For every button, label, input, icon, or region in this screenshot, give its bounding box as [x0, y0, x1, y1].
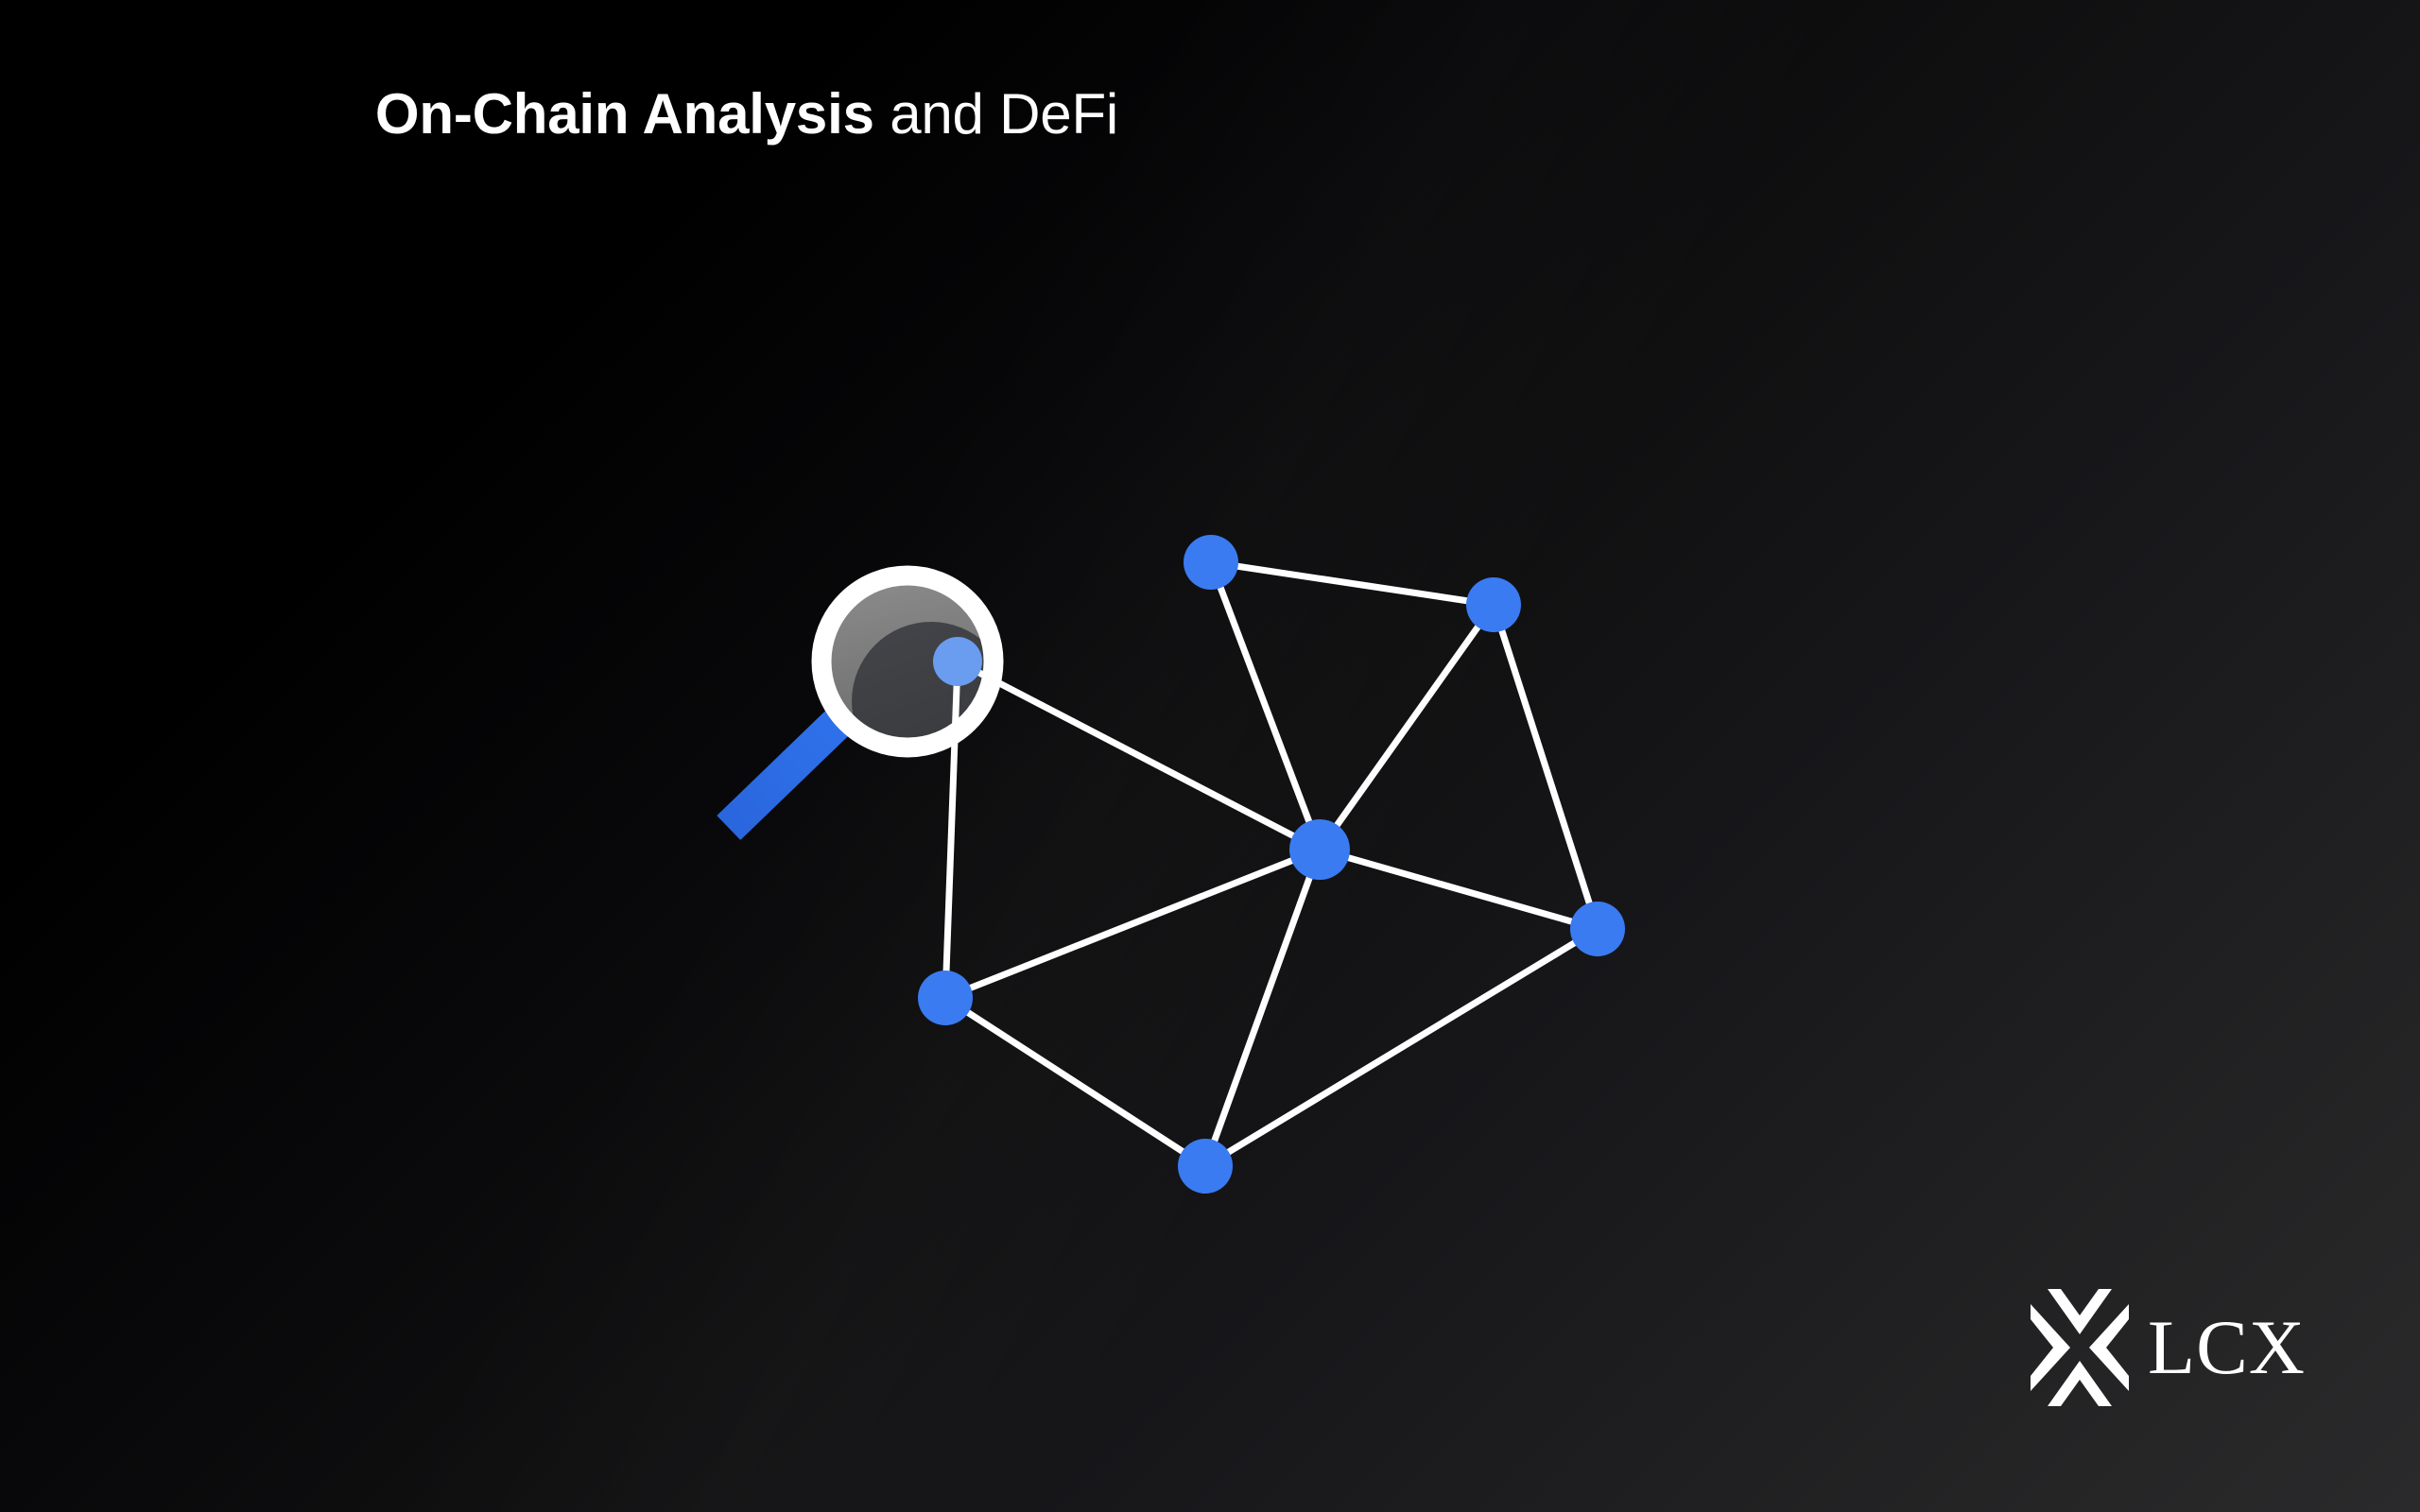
title-light-part: and DeFi	[874, 82, 1118, 146]
edge-hub-left	[945, 850, 1320, 998]
edge-topleft-hub	[1211, 562, 1320, 850]
node-left[interactable]	[918, 971, 973, 1025]
page-title: On-Chain Analysis and DeFi	[0, 83, 1494, 146]
edge-hub-bottom	[1205, 850, 1320, 1166]
network-nodes	[918, 535, 1625, 1194]
node-top-right[interactable]	[1466, 577, 1521, 632]
edge-bottom-right	[1205, 929, 1598, 1166]
network-svg	[700, 463, 1702, 1238]
title-text: On-Chain Analysis and DeFi	[375, 83, 1118, 146]
node-right[interactable]	[1570, 902, 1625, 956]
edge-topright-hub	[1320, 605, 1494, 850]
slide-canvas: On-Chain Analysis and DeFi	[0, 0, 2420, 1512]
edges-inside-glass	[945, 661, 1320, 998]
edge-hub-right	[1320, 850, 1598, 929]
network-graphic	[700, 463, 1702, 1238]
lcx-logo[interactable]: LCX	[2029, 1287, 2306, 1408]
network-edges	[945, 562, 1598, 1166]
title-strong-part: On-Chain Analysis	[375, 82, 874, 146]
lcx-wordmark: LCX	[2148, 1309, 2306, 1386]
node-bottom[interactable]	[1178, 1139, 1233, 1194]
node-hub[interactable]	[1289, 819, 1350, 880]
edge-topright-right	[1494, 605, 1598, 929]
edge-topleft-topright	[1211, 562, 1494, 605]
edge-lens-hub	[958, 661, 1320, 850]
edge-left-bottom	[945, 998, 1205, 1166]
lcx-star-mark-icon	[2029, 1287, 2131, 1408]
node-magnified[interactable]	[933, 637, 982, 686]
node-top-left[interactable]	[1184, 535, 1238, 590]
